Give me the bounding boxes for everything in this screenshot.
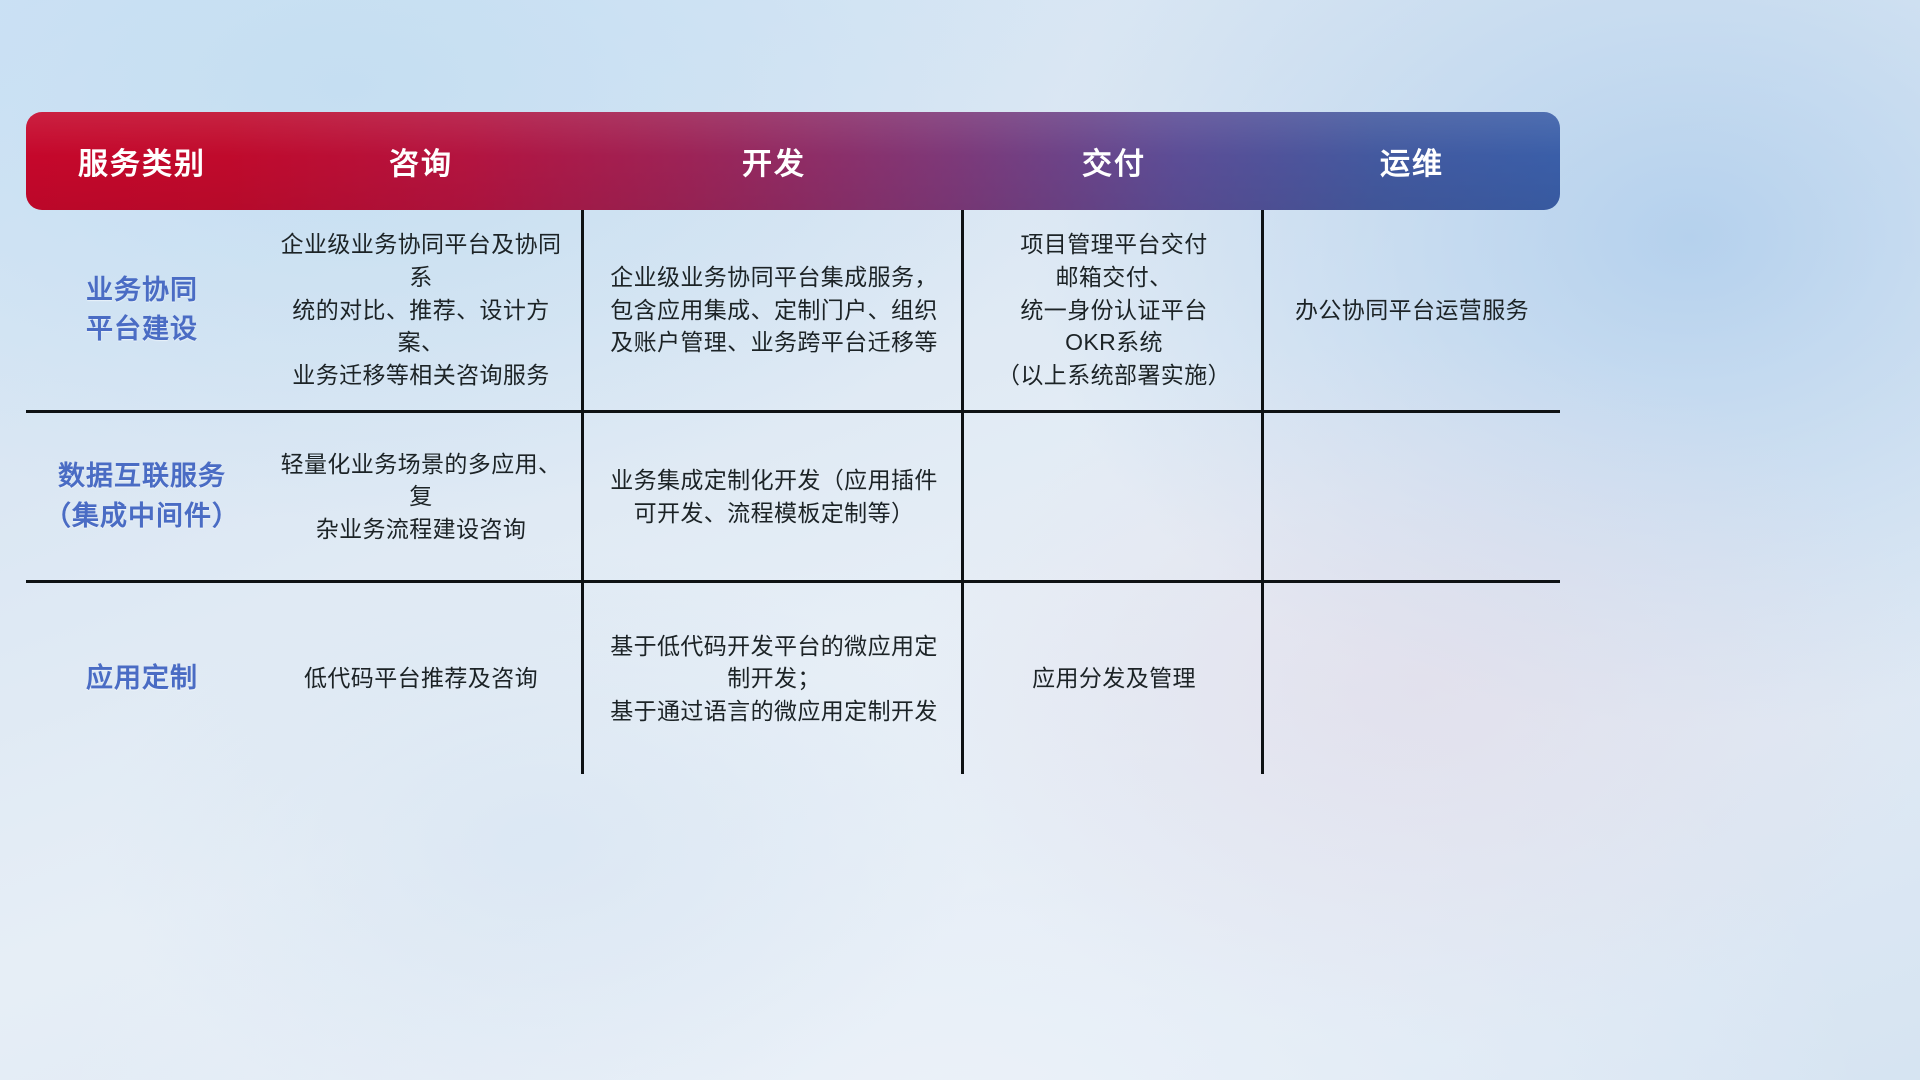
cell-text: 低代码平台推荐及咨询 (304, 662, 538, 695)
row-label-app-customization: 应用定制 (86, 659, 198, 698)
cell-consulting: 低代码平台推荐及咨询 (258, 583, 584, 774)
column-header-development: 开发 (584, 139, 964, 183)
cell-text: 基于低代码开发平台的微应用定制开发；基于通过语言的微应用定制开发 (610, 630, 938, 728)
cell-delivery: 应用分发及管理 (964, 583, 1264, 774)
cell-text: 业务集成定制化开发（应用插件可开发、流程模板定制等） (610, 464, 938, 529)
row-label-business-collaboration: 业务协同平台建设 (86, 271, 198, 349)
cell-operations (1264, 413, 1560, 580)
table-row: 应用定制 低代码平台推荐及咨询 基于低代码开发平台的微应用定制开发；基于通过语言… (26, 580, 1560, 774)
cell-development: 业务集成定制化开发（应用插件可开发、流程模板定制等） (584, 413, 964, 580)
column-header-category: 服务类别 (26, 139, 258, 183)
cell-operations (1264, 583, 1560, 774)
row-label-cell: 数据互联服务（集成中间件） (26, 413, 258, 580)
cell-consulting: 轻量化业务场景的多应用、复杂业务流程建设咨询 (258, 413, 584, 580)
cell-development: 基于低代码开发平台的微应用定制开发；基于通过语言的微应用定制开发 (584, 583, 964, 774)
cell-text: 办公协同平台运营服务 (1295, 294, 1529, 327)
service-matrix-table: 服务类别 咨询 开发 交付 运维 业务协同平台建设 企业级业务协同平台及协同系统… (26, 112, 1560, 774)
column-header-consulting: 咨询 (258, 139, 584, 183)
cell-text: 企业级业务协同平台及协同系统的对比、推荐、设计方案、业务迁移等相关咨询服务 (270, 228, 572, 391)
cell-delivery (964, 413, 1264, 580)
column-header-operations: 运维 (1264, 139, 1560, 183)
cell-text: 应用分发及管理 (1032, 662, 1196, 695)
table-header-row: 服务类别 咨询 开发 交付 运维 (26, 112, 1560, 210)
row-label-cell: 应用定制 (26, 583, 258, 774)
cell-consulting: 企业级业务协同平台及协同系统的对比、推荐、设计方案、业务迁移等相关咨询服务 (258, 210, 584, 410)
cell-delivery: 项目管理平台交付邮箱交付、统一身份认证平台OKR系统（以上系统部署实施） (964, 210, 1264, 410)
cell-operations: 办公协同平台运营服务 (1264, 210, 1560, 410)
row-label-data-interconnect: 数据互联服务（集成中间件） (44, 457, 240, 535)
table-row: 业务协同平台建设 企业级业务协同平台及协同系统的对比、推荐、设计方案、业务迁移等… (26, 210, 1560, 410)
cell-text: 轻量化业务场景的多应用、复杂业务流程建设咨询 (270, 448, 572, 546)
table-row: 数据互联服务（集成中间件） 轻量化业务场景的多应用、复杂业务流程建设咨询 业务集… (26, 410, 1560, 580)
table-body: 业务协同平台建设 企业级业务协同平台及协同系统的对比、推荐、设计方案、业务迁移等… (26, 210, 1560, 774)
cell-text: 企业级业务协同平台集成服务，包含应用集成、定制门户、组织及账户管理、业务跨平台迁… (610, 261, 938, 359)
cell-text: 项目管理平台交付邮箱交付、统一身份认证平台OKR系统（以上系统部署实施） (997, 228, 1231, 391)
cell-development: 企业级业务协同平台集成服务，包含应用集成、定制门户、组织及账户管理、业务跨平台迁… (584, 210, 964, 410)
row-label-cell: 业务协同平台建设 (26, 210, 258, 410)
column-header-delivery: 交付 (964, 139, 1264, 183)
